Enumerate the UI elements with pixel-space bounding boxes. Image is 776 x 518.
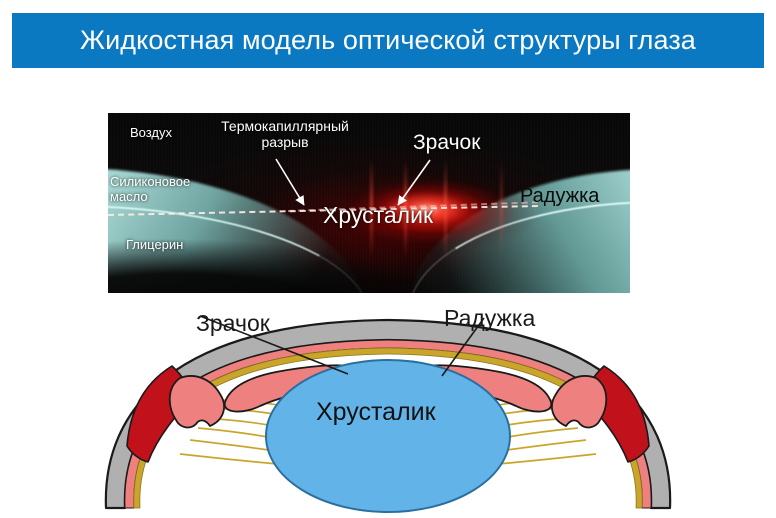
diagram-label-iris: Радужка	[444, 305, 535, 332]
page-title: Жидкостная модель оптической структуры г…	[80, 25, 696, 56]
lens-body	[266, 360, 510, 512]
pupil-arrow	[398, 160, 430, 205]
thermocapillary-arrow	[276, 159, 304, 205]
photo-label-thermocapillary-rupture: Термокапиллярный разрыв	[200, 119, 370, 150]
photo-label-silicone-oil: Силиконовое масло	[110, 175, 190, 204]
photo-label-pupil: Зрачок	[413, 131, 480, 155]
photo-label-glycerin: Глицерин	[126, 238, 183, 253]
photo-label-lens: Хрусталик	[323, 203, 433, 229]
photo-label-iris: Радужка	[520, 185, 599, 207]
slide-title-bar: Жидкостная модель оптической структуры г…	[12, 13, 764, 68]
diagram-label-pupil: Зрачок	[196, 310, 270, 337]
liquid-model-photograph: Воздух Термокапиллярный разрыв Зрачок Си…	[108, 113, 630, 293]
diagram-label-lens: Хрусталик	[316, 398, 436, 427]
photo-label-air: Воздух	[130, 126, 172, 141]
